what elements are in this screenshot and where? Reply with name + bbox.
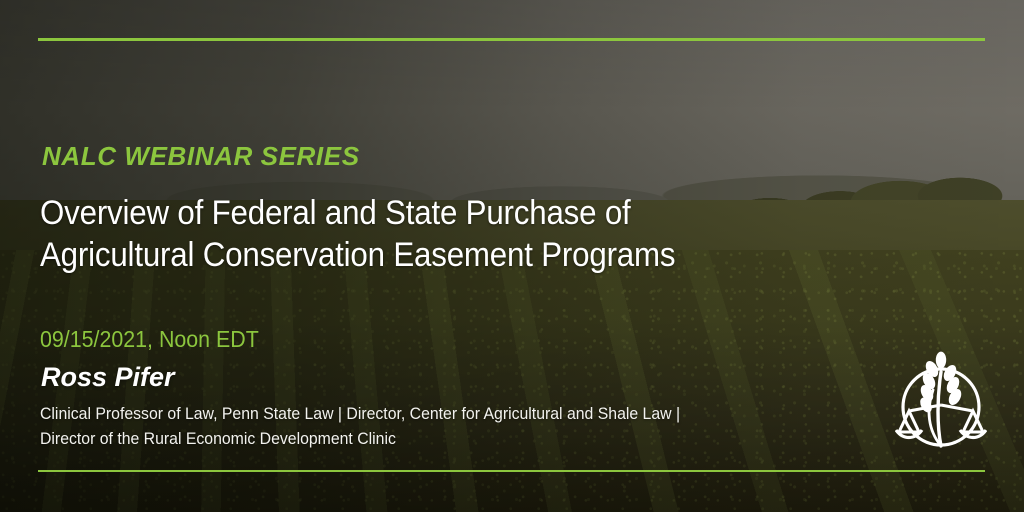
event-datetime: 09/15/2021, Noon EDT (40, 326, 259, 353)
title-line-2: Agricultural Conservation Easement Progr… (40, 234, 675, 276)
page-title: Overview of Federal and State Purchase o… (40, 192, 675, 276)
series-eyebrow: NALC WEBINAR SERIES (42, 141, 360, 172)
title-line-1: Overview of Federal and State Purchase o… (40, 192, 675, 234)
top-divider-rule (38, 38, 985, 41)
speaker-credentials: Clinical Professor of Law, Penn State La… (40, 401, 680, 451)
nalc-logo-icon (895, 350, 987, 450)
credentials-line-2: Director of the Rural Economic Developme… (40, 426, 680, 451)
bottom-divider-rule (38, 470, 985, 472)
credentials-line-1: Clinical Professor of Law, Penn State La… (40, 401, 680, 426)
speaker-name: Ross Pifer (41, 362, 175, 393)
webinar-promo-banner: NALC WEBINAR SERIES Overview of Federal … (0, 0, 1024, 512)
